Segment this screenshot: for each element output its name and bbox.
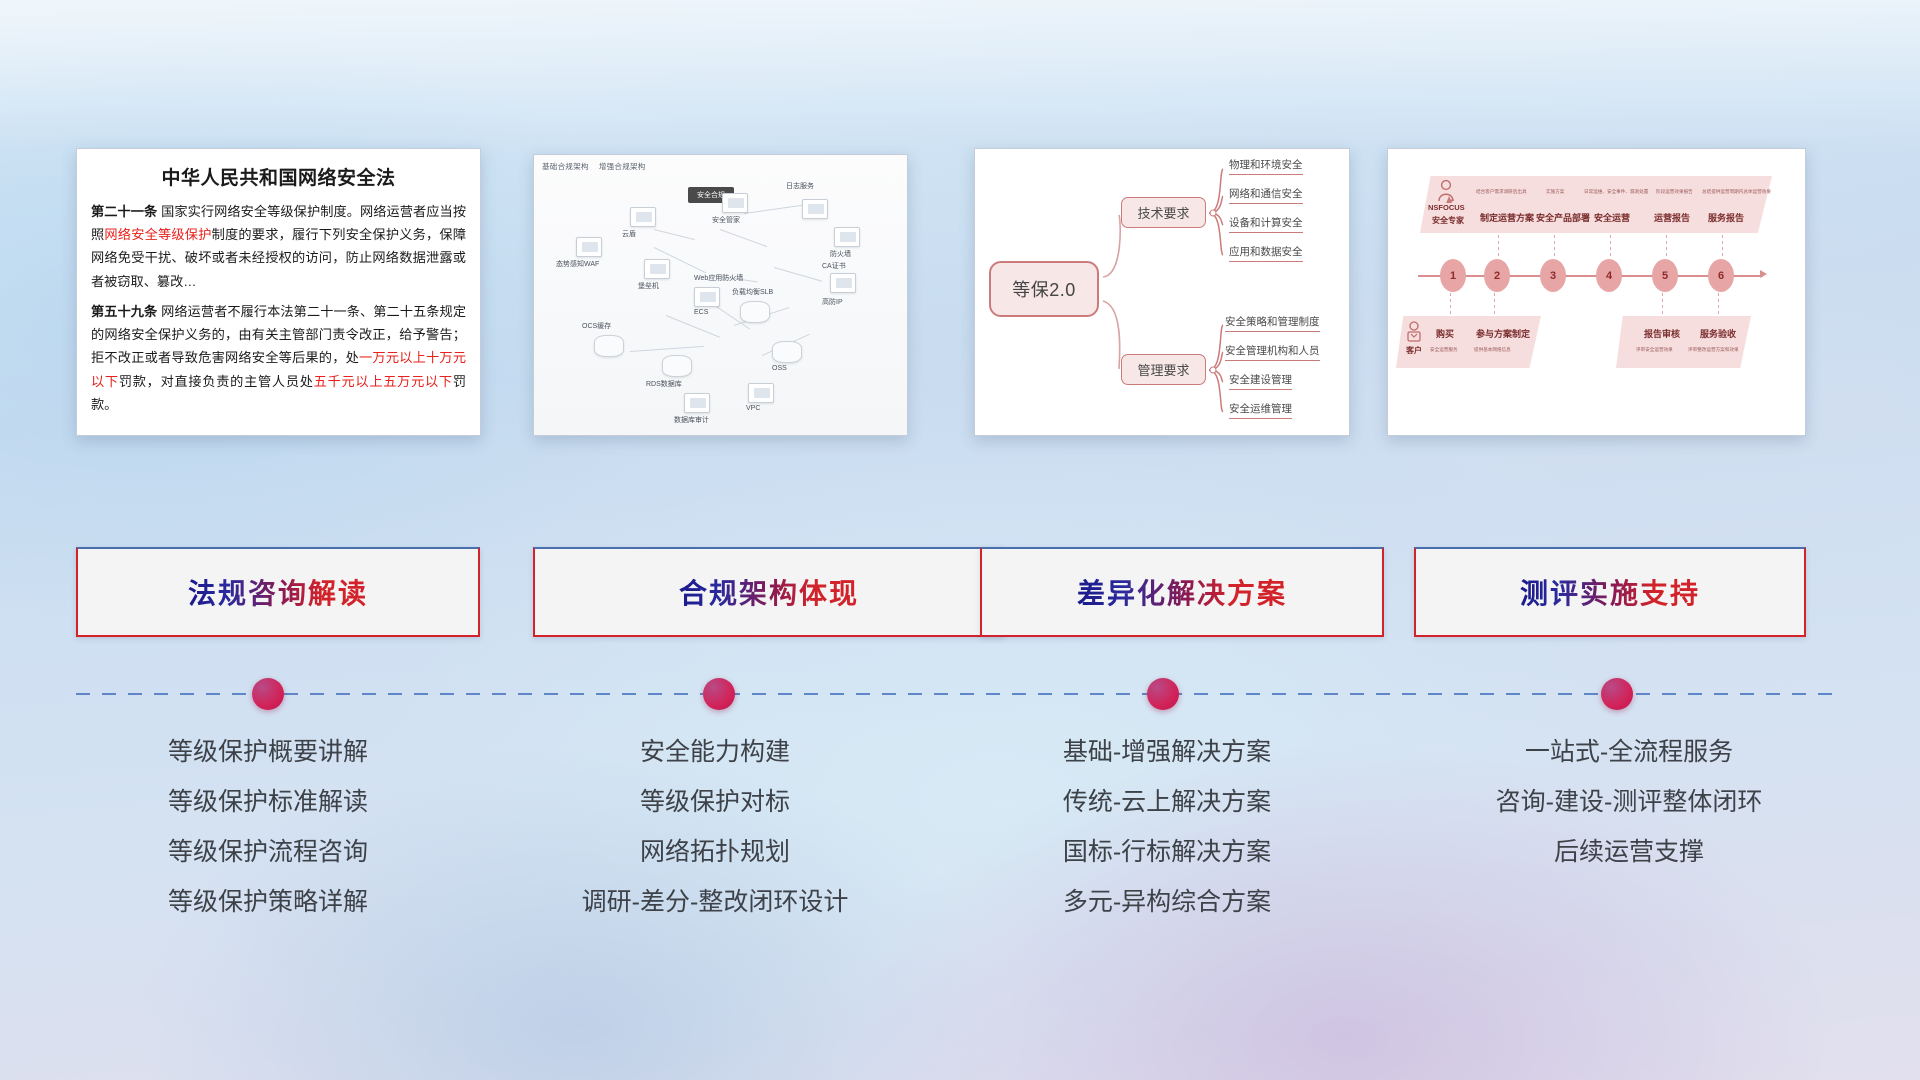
node-icon (834, 227, 860, 247)
expert-person-icon (1436, 179, 1456, 203)
list-item: 等级保护策略详解 (48, 890, 488, 915)
connector-dash (1450, 293, 1451, 317)
headline-box-differentiated-solution[interactable]: 差异化解决方案 (980, 547, 1384, 637)
customer-band-right (1616, 316, 1751, 368)
node-label: RDS数据库 (646, 379, 682, 389)
node-label: 态势感知WAF (556, 259, 599, 269)
node-label: 负载均衡SLB (732, 287, 773, 297)
connector-dash (1666, 235, 1667, 259)
headline-box-assessment-support[interactable]: 测评实施支持 (1414, 547, 1806, 637)
list-item: 等级保护对标 (490, 790, 940, 815)
step-dot: 2 (1484, 259, 1510, 292)
mindmap-branch-management: 管理要求 (1121, 354, 1206, 385)
node-label: CA证书 (822, 261, 846, 271)
top-step-sub: 日常运维、安全事件、漏洞处置 (1584, 189, 1648, 195)
node-icon (576, 237, 602, 257)
card-cloud-architecture[interactable]: 基础合规架构增强合规架构 安全合规 云盾 安全管家 日志服务 防火墙 态势感知W… (533, 154, 908, 436)
list-item: 一站式-全流程服务 (1394, 740, 1864, 765)
law-article-59: 第五十九条 网络运营者不履行本法第二十一条、第二十五条规定的网络安全保护义务的，… (91, 300, 466, 416)
list-item: 调研-差分-整改闭环设计 (490, 890, 940, 915)
node-icon (644, 259, 670, 279)
customer-label: 客户 (1406, 345, 1422, 356)
link-line (774, 267, 822, 282)
node-icon (722, 193, 748, 213)
link-line (720, 229, 767, 247)
headline-label: 差异化解决方案 (1077, 572, 1287, 612)
top-step-sub: 总结提供运营周期内总体运营效果 (1702, 189, 1771, 195)
list-item: 国标-行标解决方案 (942, 840, 1392, 865)
node-label: 云盾 (622, 229, 636, 239)
step-dot: 6 (1708, 259, 1734, 292)
node-icon (684, 393, 710, 413)
list-item: 等级保护标准解读 (48, 790, 488, 815)
architecture-diagram: 基础合规架构增强合规架构 安全合规 云盾 安全管家 日志服务 防火墙 态势感知W… (534, 155, 907, 435)
link-line (666, 315, 720, 338)
bottom-step-sub: 提供基本网络信息 (1474, 347, 1511, 353)
timeline-dot-2[interactable] (703, 678, 735, 710)
law-body: 中华人民共和国网络安全法 第二十一条 国家实行网络安全等级保护制度。网络运营者应… (77, 149, 480, 424)
nsfocus-diagram: NSFOCUS 安全专家 结合客户需求调研后出具 制定运营方案 实施方案 安全产… (1388, 149, 1805, 435)
step-dot: 1 (1440, 259, 1466, 292)
node-label: OCS缓存 (582, 321, 611, 331)
bottom-step-title: 参与方案制定 (1476, 327, 1530, 340)
connector-dash (1494, 293, 1495, 317)
node-label: 数据库审计 (674, 415, 709, 425)
node-label: 日志服务 (786, 181, 814, 191)
node-label: ECS (694, 309, 708, 316)
node-label: 堡垒机 (638, 281, 659, 291)
headline-label: 合规架构体现 (679, 572, 859, 612)
detail-column-3: 基础-增强解决方案 传统-云上解决方案 国标-行标解决方案 多元-异构综合方案 (942, 740, 1392, 940)
node-icon (740, 301, 770, 323)
headline-box-compliance-architecture[interactable]: 合规架构体现 (533, 547, 1005, 637)
detail-lists-row: 等级保护概要讲解 等级保护标准解读 等级保护流程咨询 等级保护策略详解 安全能力… (0, 740, 1920, 980)
top-step-sub: 实施方案 (1546, 189, 1564, 195)
bottom-step-sub: 安全运营服务 (1430, 347, 1458, 353)
detail-column-4: 一站式-全流程服务 咨询-建设-测评整体闭环 后续运营支撑 (1394, 740, 1864, 890)
headline-boxes-row: 法规咨询解读 合规架构体现 差异化解决方案 测评实施支持 (0, 547, 1920, 639)
node-icon (662, 355, 692, 377)
law-article-21: 第二十一条 国家实行网络安全等级保护制度。网络运营者应当按照网络安全等级保护制度… (91, 200, 466, 293)
node-icon (772, 341, 802, 363)
connector-dash (1722, 235, 1723, 259)
bottom-step-title: 购买 (1436, 327, 1454, 340)
list-item: 网络拓扑规划 (490, 840, 940, 865)
card-mindmap-dengbao[interactable]: 等保2.0 技术要求 管理要求 物理和环境安全 网络和通信安全 设备和计算安全 … (974, 148, 1350, 436)
node-icon (830, 273, 856, 293)
architecture-header: 基础合规架构增强合规架构 (542, 161, 656, 172)
link-line (654, 229, 695, 240)
node-icon (694, 287, 720, 307)
architecture-header-right: 增强合规架构 (599, 162, 646, 171)
list-item: 安全能力构建 (490, 740, 940, 765)
mindmap-root: 等保2.0 (989, 261, 1099, 317)
connector-dash (1718, 293, 1719, 317)
list-item: 等级保护流程咨询 (48, 840, 488, 865)
mindmap: 等保2.0 技术要求 管理要求 物理和环境安全 网络和通信安全 设备和计算安全 … (975, 149, 1349, 435)
bottom-step-sub: 评审安全运营效果 (1636, 347, 1673, 353)
bottom-step-title: 服务验收 (1700, 327, 1736, 340)
list-item: 后续运营支撑 (1394, 840, 1864, 865)
list-item: 咨询-建设-测评整体闭环 (1394, 790, 1864, 815)
link-line (630, 346, 704, 352)
timeline-arrow-icon (1760, 270, 1767, 278)
list-item: 等级保护概要讲解 (48, 740, 488, 765)
node-label: 高防IP (822, 297, 843, 307)
list-item: 多元-异构综合方案 (942, 890, 1392, 915)
mindmap-branch-technical: 技术要求 (1121, 197, 1206, 228)
bottom-step-title: 报告审核 (1644, 327, 1680, 340)
bottom-step-sub: 评审整改运营方案和效果 (1688, 347, 1739, 353)
mindmap-leaf: 应用和数据安全 (1229, 244, 1303, 262)
node-label: 安全管家 (712, 215, 740, 225)
mindmap-leaf: 网络和通信安全 (1229, 186, 1303, 204)
mindmap-leaf: 安全管理机构和人员 (1225, 343, 1320, 361)
card-cybersecurity-law[interactable]: 中华人民共和国网络安全法 第二十一条 国家实行网络安全等级保护制度。网络运营者应… (76, 148, 481, 436)
law-title: 中华人民共和国网络安全法 (91, 163, 466, 190)
architecture-header-left: 基础合规架构 (542, 162, 589, 171)
list-item: 传统-云上解决方案 (942, 790, 1392, 815)
top-step-sub: 结合客户需求调研后出具 (1476, 189, 1527, 195)
expert-band (1420, 176, 1772, 233)
connector-dash (1610, 235, 1611, 259)
node-label: VPC (746, 405, 760, 412)
article-21-highlight: 网络安全等级保护 (104, 227, 211, 242)
mindmap-leaf: 安全策略和管理制度 (1225, 314, 1320, 332)
step-dot: 3 (1540, 259, 1566, 292)
article-59-highlight-2: 五千元以上五万元以下 (314, 374, 453, 389)
top-step-title: 制定运营方案 (1480, 211, 1534, 224)
node-label: 防火墙 (830, 249, 851, 259)
timeline-dot-1[interactable] (252, 678, 284, 710)
node-icon (594, 335, 624, 357)
expert-label-line2: 安全专家 (1432, 215, 1464, 226)
expert-label-line1: NSFOCUS (1428, 203, 1465, 212)
detail-column-2: 安全能力构建 等级保护对标 网络拓扑规划 调研-差分-整改闭环设计 (490, 740, 940, 940)
article-59-label: 第五十九条 (91, 304, 157, 319)
step-dot: 5 (1652, 259, 1678, 292)
timeline-dot-4[interactable] (1601, 678, 1633, 710)
headline-label: 测评实施支持 (1520, 572, 1700, 612)
detail-column-1: 等级保护概要讲解 等级保护标准解读 等级保护流程咨询 等级保护策略详解 (48, 740, 488, 940)
reference-cards-row: 中华人民共和国网络安全法 第二十一条 国家实行网络安全等级保护制度。网络运营者应… (0, 148, 1920, 448)
node-icon (748, 383, 774, 403)
connector-dash (1662, 293, 1663, 317)
top-step-title: 运营报告 (1654, 211, 1690, 224)
article-21-label: 第二十一条 (91, 204, 157, 219)
top-sheen (0, 0, 1920, 150)
timeline-dot-3[interactable] (1147, 678, 1179, 710)
dashed-timeline (76, 693, 1836, 695)
connector-dash (1554, 235, 1555, 259)
mindmap-leaf: 安全运维管理 (1229, 401, 1292, 419)
top-step-sub: 阶段运营效果报告 (1656, 189, 1693, 195)
top-step-title: 服务报告 (1708, 211, 1744, 224)
mindmap-leaf: 设备和计算安全 (1229, 215, 1303, 233)
mindmap-leaf: 安全建设管理 (1229, 372, 1292, 390)
connector-dash (1498, 235, 1499, 259)
node-icon (630, 207, 656, 227)
article-59-text-b: 罚款，对直接负责的主管人员处 (119, 374, 314, 389)
step-dot: 4 (1596, 259, 1622, 292)
top-step-title: 安全产品部署 (1536, 211, 1590, 224)
top-step-title: 安全运营 (1594, 211, 1630, 224)
link-line (744, 205, 802, 214)
customer-person-icon (1406, 321, 1422, 343)
headline-box-regulation-consulting[interactable]: 法规咨询解读 (76, 547, 480, 637)
node-label: Web应用防火墙 (694, 273, 743, 283)
node-label: OSS (772, 365, 787, 372)
mindmap-leaf: 物理和环境安全 (1229, 157, 1303, 175)
card-nsfocus-service-flow[interactable]: NSFOCUS 安全专家 结合客户需求调研后出具 制定运营方案 实施方案 安全产… (1387, 148, 1806, 436)
node-icon (802, 199, 828, 219)
list-item: 基础-增强解决方案 (942, 740, 1392, 765)
headline-label: 法规咨询解读 (188, 572, 368, 612)
